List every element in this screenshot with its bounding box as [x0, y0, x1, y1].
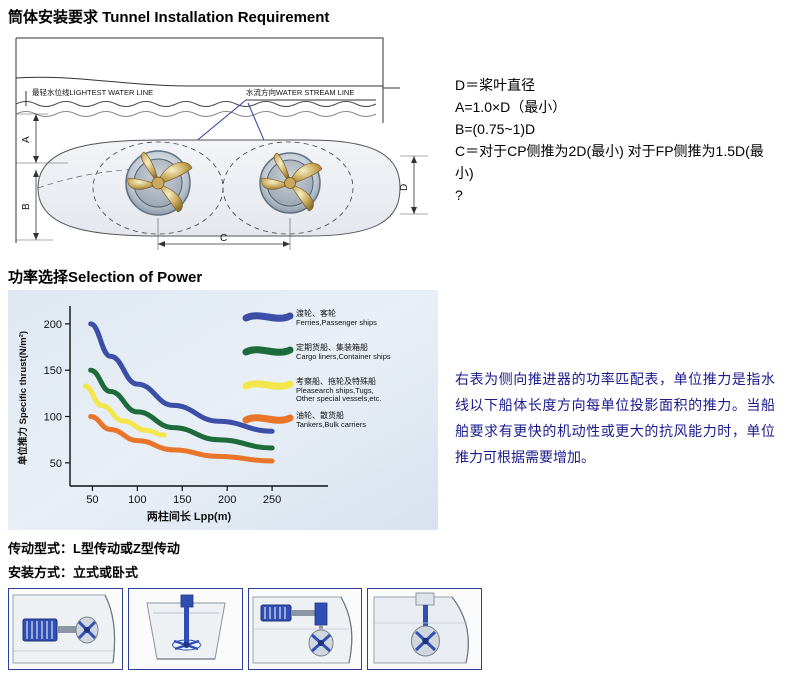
chart-xtick: 150: [173, 494, 191, 506]
chart-legend-swatch: [246, 418, 290, 421]
power-selection-chart: 5010015020050100150200250 渡轮、客轮Ferries,P…: [8, 290, 438, 530]
chart-xtick: 50: [86, 494, 98, 506]
chart-legend-label-en: Cargo liners,Container ships: [296, 352, 391, 361]
chart-legend-label-cn: 油轮、散货船: [296, 410, 344, 420]
chart-legend-swatch: [246, 316, 290, 319]
chart-ytick: 150: [44, 365, 62, 377]
chart-legend-label-en: Other special vessels,etc.: [296, 394, 381, 403]
chart-legend-swatch: [246, 384, 290, 387]
chart-ylabel: 单位推力 Specific thrust(N/m²): [17, 331, 29, 465]
installation-thumbnails: [8, 588, 482, 672]
formula-line-2: B=(0.75~1)D: [455, 118, 780, 140]
tunnel-installation-diagram: 最轻水位线LIGHTEST WATER LINE 水流方向WATER STREA…: [8, 28, 438, 253]
formula-line-5: ?: [455, 184, 780, 206]
chart-ytick: 50: [50, 458, 62, 470]
dimension-a-label: A: [21, 136, 32, 143]
dimension-c-label: C: [220, 233, 227, 244]
thumb-z-drive-bow[interactable]: [367, 588, 482, 670]
label-water-stream-line: 水流方向WATER STREAM LINE: [246, 87, 354, 97]
power-description-paragraph: 右表为侧向推进器的功率匹配表，单位推力是指水线以下船体长度方向每单位投影面积的推…: [455, 366, 775, 470]
chart-xlabel: 两柱间长 Lpp(m): [147, 509, 232, 523]
chart-legend-label-en: Tankers,Bulk carriers: [296, 420, 366, 429]
thumb-l-drive-bow[interactable]: [248, 588, 363, 670]
chart-legend-label-cn: 渡轮、客轮: [296, 308, 336, 318]
thumb-horizontal-drive-bow[interactable]: [8, 588, 123, 670]
chart-ytick: 100: [44, 412, 62, 424]
dimension-b-label: B: [21, 203, 32, 210]
formula-line-1: A=1.0×D（最小）: [455, 96, 780, 118]
formula-line-4: 小): [455, 162, 780, 184]
formula-line-3: C＝对于CP侧推为2D(最小) 对于FP侧推为1.5D(最: [455, 140, 780, 162]
formula-list: D＝桨叶直径 A=1.0×D（最小） B=(0.75~1)D C＝对于CP侧推为…: [455, 74, 780, 206]
formula-line-0: D＝桨叶直径: [455, 74, 780, 96]
chart-xtick: 250: [263, 494, 281, 506]
page-title-power: 功率选择Selection of Power: [8, 266, 202, 287]
chart-xtick: 200: [218, 494, 236, 506]
label-lightest-water-line: 最轻水位线LIGHTEST WATER LINE: [32, 87, 153, 97]
chart-legend-label-en: Ferries,Passenger ships: [296, 318, 377, 327]
chart-xtick: 100: [128, 494, 146, 506]
thumb-vertical-drive-section[interactable]: [128, 588, 243, 670]
dimension-d-label: D: [399, 184, 410, 191]
drive-type-label: 传动型式：L型传动或Z型传动: [8, 538, 180, 557]
chart-legend-swatch: [246, 350, 290, 353]
chart-legend-label-cn: 考察船、拖轮及特殊船: [296, 376, 376, 386]
chart-ytick: 200: [44, 319, 62, 331]
install-type-label: 安装方式：立式或卧式: [8, 562, 138, 581]
page-title-tunnel: 筒体安装要求 Tunnel Installation Requirement: [8, 6, 329, 27]
chart-legend-label-cn: 定期货船、集装箱船: [296, 342, 368, 352]
